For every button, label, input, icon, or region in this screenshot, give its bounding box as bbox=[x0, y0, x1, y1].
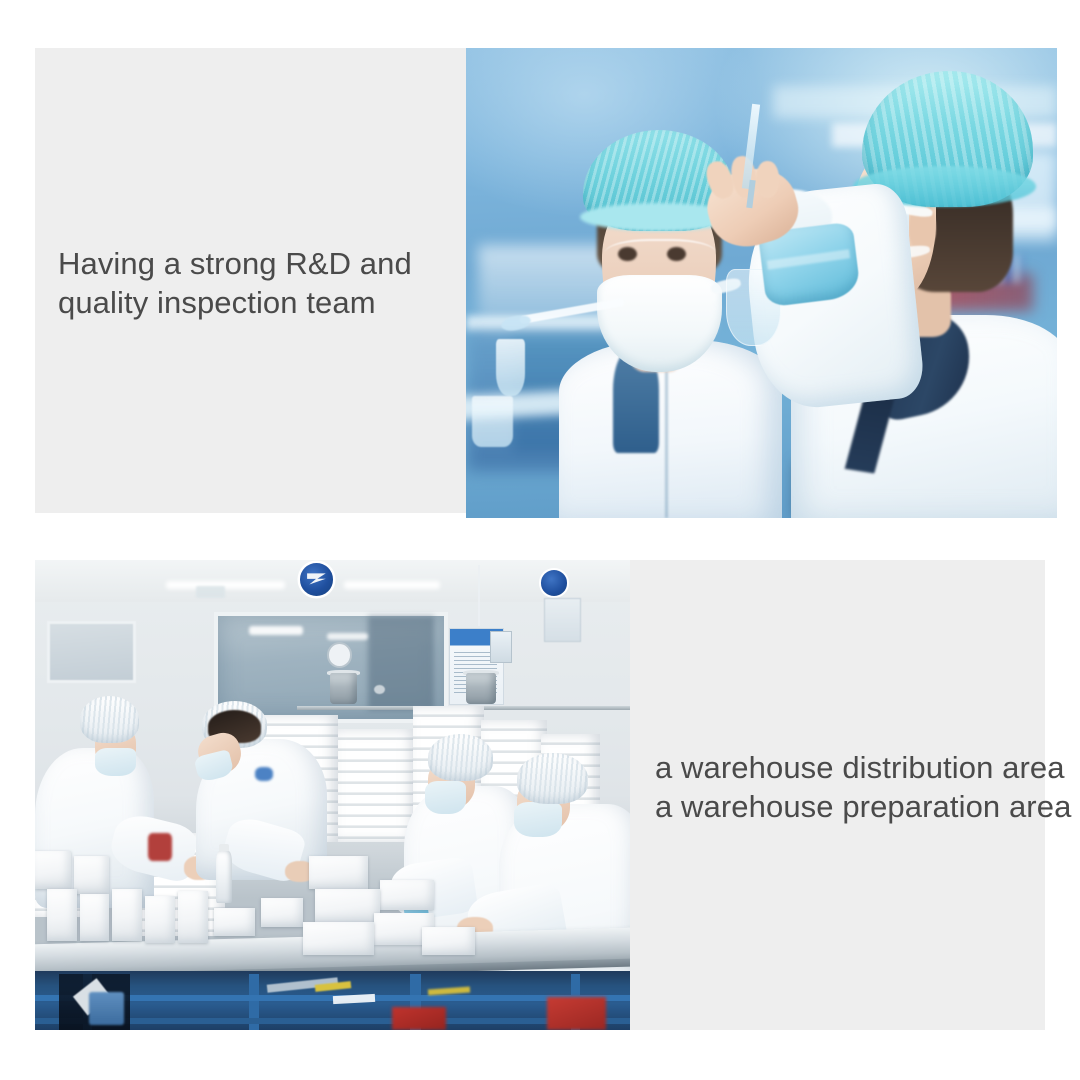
table-carton-13 bbox=[214, 908, 256, 936]
table-carton-6 bbox=[35, 851, 71, 889]
table-carton-9 bbox=[315, 889, 380, 922]
table-carton-4 bbox=[145, 896, 175, 943]
stainless-pot-1 bbox=[330, 673, 357, 704]
window-dark-area bbox=[368, 616, 433, 710]
top-content-block: Having a strong R&D and quality inspecti… bbox=[0, 0, 1080, 530]
face-mask-c bbox=[425, 781, 467, 814]
top-caption-text: Having a strong R&D and quality inspecti… bbox=[58, 244, 412, 322]
wall-clock-icon bbox=[327, 642, 352, 668]
table-carton-5 bbox=[178, 891, 208, 943]
table-carton-8 bbox=[309, 856, 369, 889]
table-carton-7 bbox=[74, 856, 110, 894]
ceiling-vent bbox=[196, 586, 226, 597]
white-bottle bbox=[216, 851, 231, 903]
window-light-1 bbox=[249, 626, 303, 635]
coat-logo-b bbox=[255, 767, 273, 781]
wall-mounted-box bbox=[490, 631, 512, 663]
lab-test-tube bbox=[496, 339, 526, 395]
face-mask-d bbox=[514, 802, 562, 837]
table-carton-2 bbox=[80, 894, 110, 941]
stainless-pot-2 bbox=[466, 673, 496, 704]
hairnet-a bbox=[80, 696, 140, 743]
top-caption-line-2: quality inspection team bbox=[58, 283, 412, 322]
blue-circular-sign-2-icon bbox=[541, 570, 567, 595]
safety-glasses bbox=[605, 239, 716, 273]
table-carton-11 bbox=[380, 880, 434, 911]
side-window bbox=[47, 621, 136, 683]
small-shelf-object bbox=[374, 685, 385, 694]
red-object-background bbox=[148, 833, 172, 861]
hairnet-c bbox=[428, 734, 493, 781]
lab-coat-seam-left bbox=[665, 356, 668, 518]
red-object-2 bbox=[547, 997, 607, 1030]
table-carton-14 bbox=[261, 898, 303, 926]
window-light-2 bbox=[327, 633, 369, 641]
table-carton-1 bbox=[47, 889, 77, 941]
carton-stack-2 bbox=[338, 729, 415, 842]
bottom-content-block: a warehouse distribution area a warehous… bbox=[0, 560, 1080, 1030]
warehouse-packing-photo bbox=[35, 560, 630, 1030]
wall-notice-2 bbox=[544, 598, 582, 642]
top-caption-panel: Having a strong R&D and quality inspecti… bbox=[35, 48, 470, 513]
hanging-cable bbox=[478, 565, 480, 626]
blue-circular-sign-icon bbox=[300, 563, 333, 596]
lab-beaker bbox=[472, 396, 513, 448]
bottom-caption-text: a warehouse distribution area a warehous… bbox=[655, 748, 1071, 826]
hairnet-d bbox=[517, 753, 588, 805]
table-carton-15 bbox=[422, 927, 476, 955]
top-caption-line-1: Having a strong R&D and bbox=[58, 244, 412, 283]
table-carton-10 bbox=[303, 922, 374, 955]
finger-3 bbox=[756, 161, 780, 199]
face-mask-a bbox=[95, 748, 137, 776]
red-object-1 bbox=[392, 1007, 446, 1031]
quality-inspection-lab-photo bbox=[466, 48, 1057, 518]
bottom-caption-line-1: a warehouse distribution area bbox=[655, 748, 1071, 787]
blue-bucket bbox=[89, 992, 125, 1025]
ceiling-light-1 bbox=[166, 581, 285, 589]
ceiling-light-2 bbox=[344, 581, 439, 589]
bottom-caption-line-2: a warehouse preparation area bbox=[655, 787, 1071, 826]
table-carton-3 bbox=[112, 889, 142, 941]
